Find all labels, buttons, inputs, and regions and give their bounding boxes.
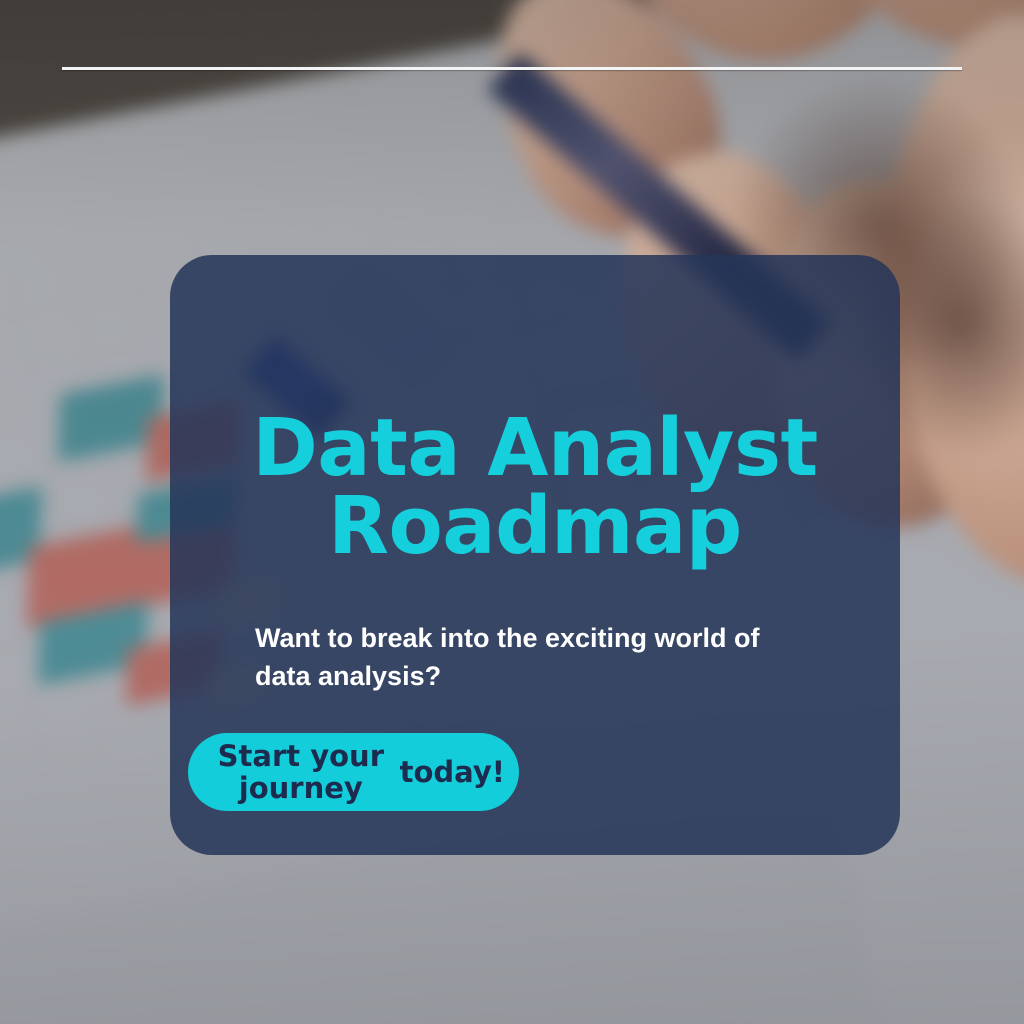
content-card: Data Analyst Roadmap Want to break into …	[170, 255, 900, 855]
card-inner: Data Analyst Roadmap Want to break into …	[170, 255, 900, 855]
poster-canvas: Data Analyst Roadmap Want to break into …	[0, 0, 1024, 1024]
start-journey-button[interactable]: Start your journey today!	[188, 733, 519, 811]
top-divider-rule	[62, 67, 962, 70]
cta-line-1: Start your journey	[202, 740, 400, 805]
subtitle-text: Want to break into the exciting world of…	[255, 619, 815, 696]
page-title: Data Analyst Roadmap	[170, 409, 900, 565]
page-title-line-2: Roadmap	[170, 487, 900, 565]
cta-line-2: today!	[400, 756, 505, 788]
